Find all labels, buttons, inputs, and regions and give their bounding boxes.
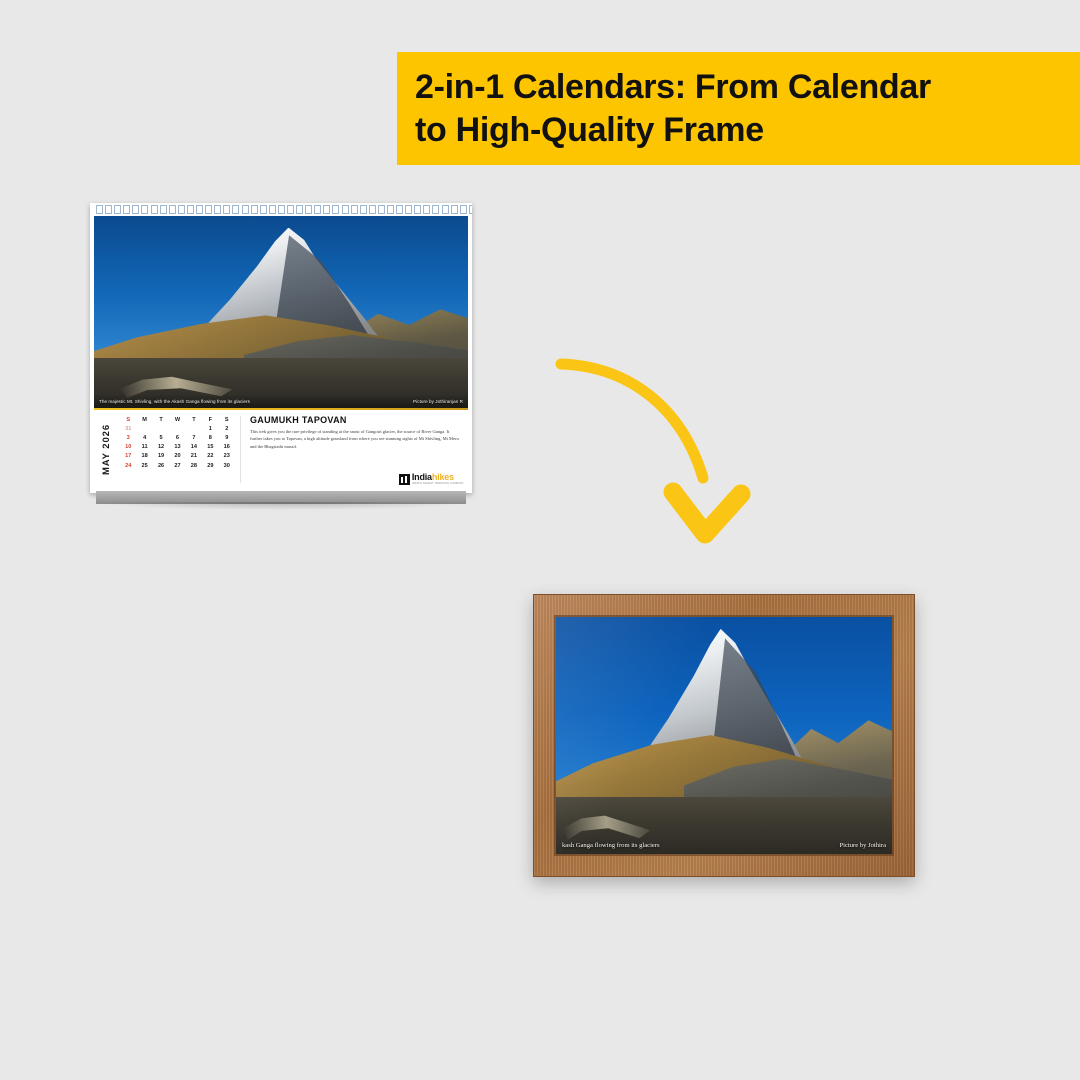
vertical-divider — [240, 416, 241, 483]
week-row: 24252627282930 — [120, 461, 235, 470]
day-cell: 26 — [153, 461, 169, 470]
weekday-header: T — [153, 415, 169, 424]
logo-tagline: INDIA'S SAFEST TREKKING COMPANY — [412, 483, 464, 486]
binding-hole — [323, 205, 330, 214]
binding-hole — [105, 205, 112, 214]
day-cell: 25 — [136, 461, 152, 470]
day-cell: 18 — [136, 452, 152, 461]
day-cell: 15 — [202, 443, 218, 452]
binding-hole — [351, 205, 358, 214]
weekday-header: W — [169, 415, 185, 424]
logo-word-hikes: hikes — [432, 472, 454, 482]
caption-left-text: The majestic Mt. Shivling, with the Akas… — [99, 399, 250, 404]
binding-hole — [414, 205, 421, 214]
binding-hole — [378, 205, 385, 214]
binding-hole — [123, 205, 130, 214]
binding-hole — [460, 205, 467, 214]
binding-hole — [405, 205, 412, 214]
binding-hole — [305, 205, 312, 214]
spiral-binding — [94, 203, 468, 216]
trek-info: GAUMUKH TAPOVAN This trek gives you the … — [248, 410, 468, 489]
day-cell: 10 — [120, 443, 136, 452]
day-cell: 22 — [202, 452, 218, 461]
binding-hole — [232, 205, 239, 214]
binding-hole — [451, 205, 458, 214]
day-cell: 20 — [169, 452, 185, 461]
calendar-drop-shadow — [92, 502, 470, 510]
framed-photo-caption: kash Ganga flowing from its glaciers Pic… — [556, 842, 892, 849]
binding-hole — [396, 205, 403, 214]
day-cell: 31 — [120, 424, 136, 433]
logo-wordmark: Indiahikes INDIA'S SAFEST TREKKING COMPA… — [412, 473, 464, 486]
day-cell-empty — [136, 424, 152, 433]
binding-hole — [269, 205, 276, 214]
binding-hole — [432, 205, 439, 214]
calendar-card: The majestic Mt. Shivling, with the Akas… — [90, 203, 472, 493]
binding-hole — [96, 205, 103, 214]
framed-print: kash Ganga flowing from its glaciers Pic… — [533, 594, 915, 877]
binding-hole — [369, 205, 376, 214]
day-cell: 8 — [202, 433, 218, 442]
calendar-info-panel: MAY 2026 SMTWTFS 31123456789101112131415… — [94, 410, 468, 489]
framed-photo: kash Ganga flowing from its glaciers Pic… — [556, 617, 892, 854]
month-grid: SMTWTFS 31123456789101112131415161718192… — [120, 410, 235, 489]
day-cell: 21 — [186, 452, 202, 461]
binding-hole — [251, 205, 258, 214]
binding-hole — [160, 205, 167, 214]
indiahikes-logo: Indiahikes INDIA'S SAFEST TREKKING COMPA… — [399, 473, 464, 486]
caption-credit-text: Picture by Jothiranjan R — [413, 399, 463, 404]
binding-hole — [223, 205, 230, 214]
binding-hole — [151, 205, 158, 214]
day-cell: 7 — [186, 433, 202, 442]
weekday-header: S — [120, 415, 136, 424]
day-cell: 3 — [120, 433, 136, 442]
desk-calendar: The majestic Mt. Shivling, with the Akas… — [90, 203, 472, 523]
binding-hole — [423, 205, 430, 214]
weekday-header: T — [186, 415, 202, 424]
binding-hole — [205, 205, 212, 214]
binding-hole — [242, 205, 249, 214]
binding-hole — [342, 205, 349, 214]
binding-hole — [296, 205, 303, 214]
weekday-header: S — [219, 415, 235, 424]
day-cell: 30 — [219, 461, 235, 470]
headline-line-2: to High-Quality Frame — [415, 109, 1080, 152]
binding-hole — [114, 205, 121, 214]
binding-hole — [132, 205, 139, 214]
day-cell: 12 — [153, 443, 169, 452]
binding-hole — [469, 205, 472, 214]
trek-description: This trek gives you the rare privilege o… — [250, 428, 460, 450]
binding-hole — [360, 205, 367, 214]
month-grid-table: SMTWTFS 31123456789101112131415161718192… — [120, 415, 235, 470]
day-cell: 11 — [136, 443, 152, 452]
binding-hole — [278, 205, 285, 214]
month-label-text: MAY 2026 — [102, 424, 113, 475]
calendar-photo: The majestic Mt. Shivling, with the Akas… — [94, 216, 468, 408]
month-label: MAY 2026 — [94, 410, 120, 489]
calendar-photo-caption: The majestic Mt. Shivling, with the Akas… — [94, 394, 468, 408]
day-cell-empty — [169, 424, 185, 433]
day-cell: 5 — [153, 433, 169, 442]
binding-hole — [314, 205, 321, 214]
week-row: 17181920212223 — [120, 452, 235, 461]
week-row: 10111213141516 — [120, 443, 235, 452]
binding-hole — [332, 205, 339, 214]
day-cell-empty — [186, 424, 202, 433]
day-cell: 23 — [219, 452, 235, 461]
binding-hole — [178, 205, 185, 214]
day-cell: 24 — [120, 461, 136, 470]
month-grid-body: 3112345678910111213141516171819202122232… — [120, 424, 235, 470]
day-cell: 13 — [169, 443, 185, 452]
day-cell: 9 — [219, 433, 235, 442]
binding-hole — [442, 205, 449, 214]
day-cell: 19 — [153, 452, 169, 461]
binding-hole — [387, 205, 394, 214]
framed-caption-left-text: kash Ganga flowing from its glaciers — [562, 842, 660, 849]
day-cell: 27 — [169, 461, 185, 470]
framed-caption-credit-text: Picture by Jothira — [839, 842, 886, 849]
binding-hole — [287, 205, 294, 214]
weekday-header: M — [136, 415, 152, 424]
binding-hole — [169, 205, 176, 214]
binding-hole — [214, 205, 221, 214]
week-row: 3456789 — [120, 433, 235, 442]
day-cell: 28 — [186, 461, 202, 470]
day-cell-empty — [153, 424, 169, 433]
day-cell: 29 — [202, 461, 218, 470]
week-row: 3112 — [120, 424, 235, 433]
logo-word-india: India — [412, 472, 432, 482]
trek-title: GAUMUKH TAPOVAN — [250, 415, 460, 425]
day-cell: 2 — [219, 424, 235, 433]
weekday-header: F — [202, 415, 218, 424]
headline-banner: 2-in-1 Calendars: From Calendar to High-… — [397, 52, 1080, 165]
weekday-header-row: SMTWTFS — [120, 415, 235, 424]
day-cell: 6 — [169, 433, 185, 442]
day-cell: 16 — [219, 443, 235, 452]
day-cell: 1 — [202, 424, 218, 433]
curved-down-arrow-icon — [555, 352, 755, 547]
day-cell: 17 — [120, 452, 136, 461]
binding-hole — [187, 205, 194, 214]
binding-hole — [141, 205, 148, 214]
headline-line-1: 2-in-1 Calendars: From Calendar — [415, 66, 1080, 109]
binding-hole — [260, 205, 267, 214]
binding-hole — [196, 205, 203, 214]
indiahikes-mark-icon — [399, 474, 410, 485]
day-cell: 4 — [136, 433, 152, 442]
day-cell: 14 — [186, 443, 202, 452]
